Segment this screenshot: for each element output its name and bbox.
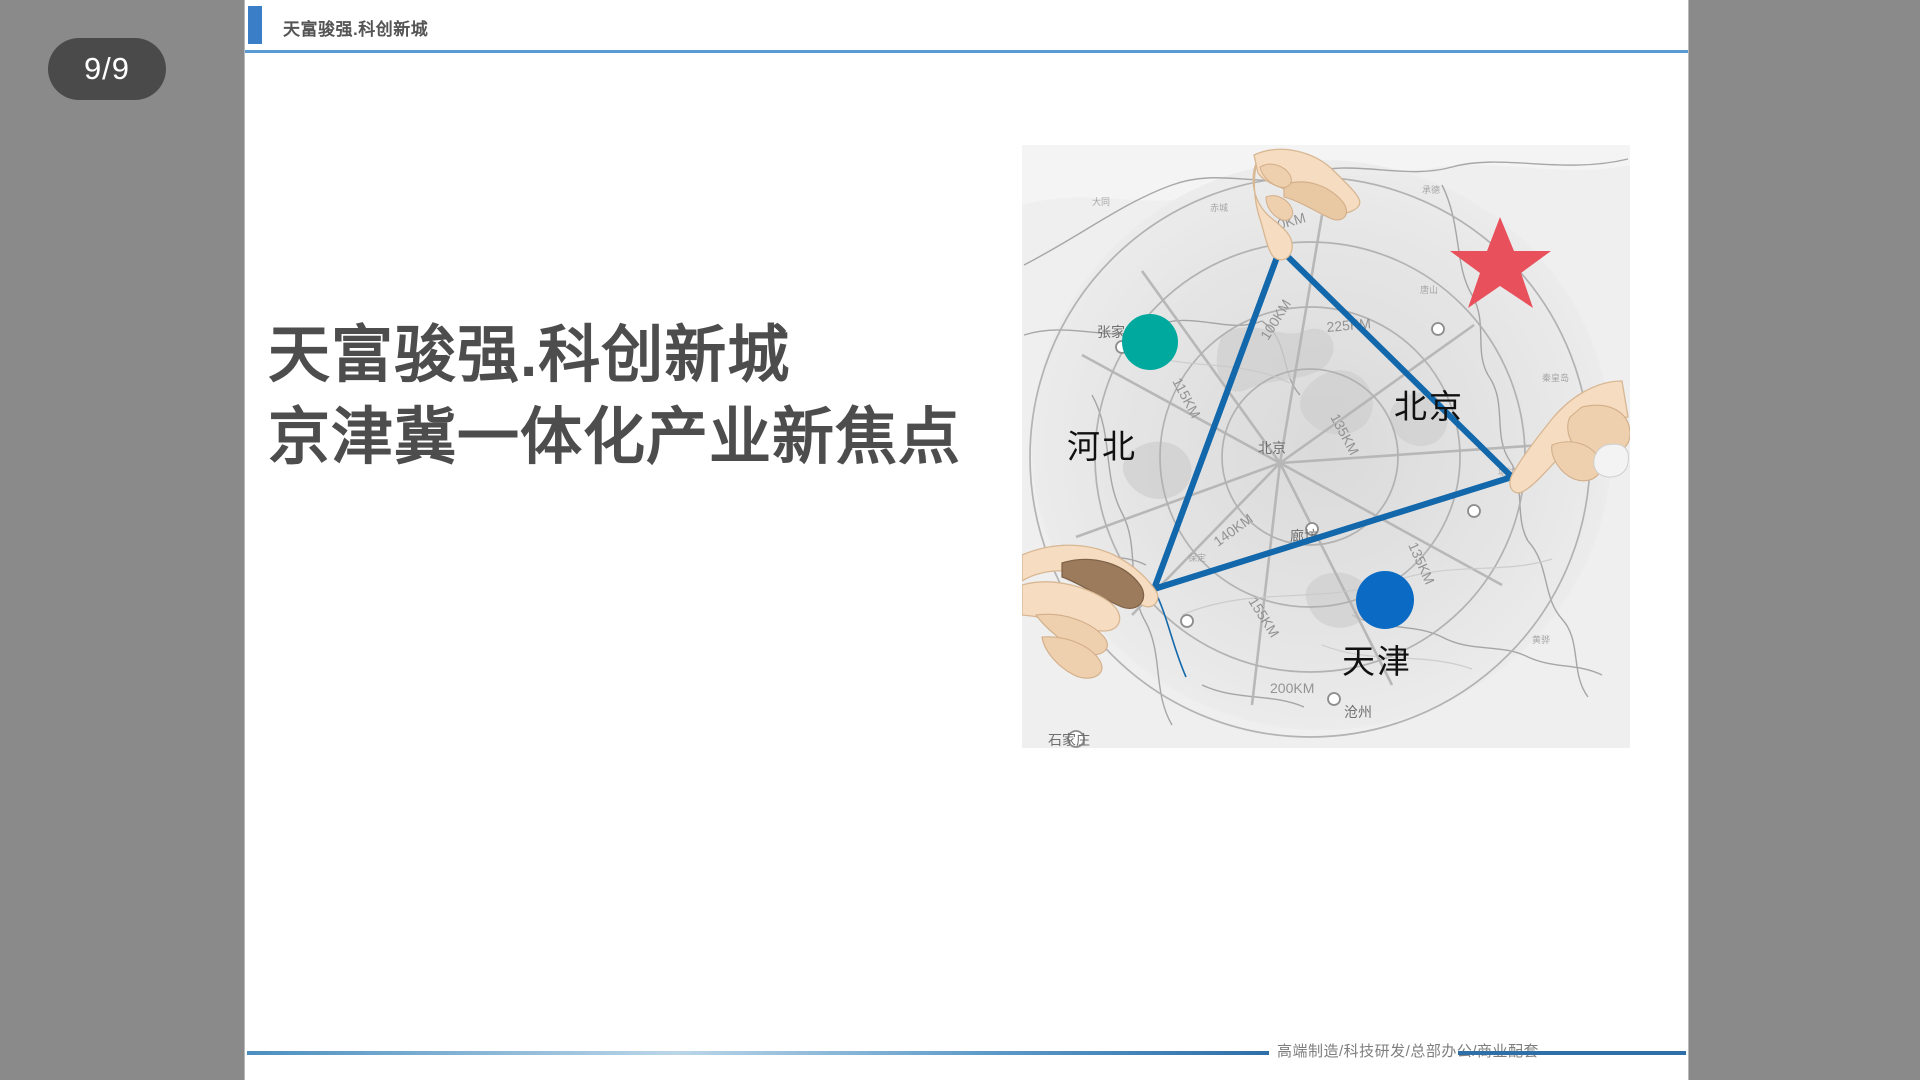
footer-rule-right bbox=[1458, 1051, 1686, 1055]
map-label-hebei: 河北 bbox=[1067, 420, 1137, 468]
region-map-image: 200KM 100KM 225KM 115KM 135KM 155KM 135K… bbox=[1022, 145, 1630, 748]
map-label-beijing: 北京 bbox=[1394, 380, 1464, 428]
svg-text:秦皇岛: 秦皇岛 bbox=[1542, 372, 1569, 383]
svg-text:保定: 保定 bbox=[1188, 552, 1206, 563]
svg-text:大同: 大同 bbox=[1092, 196, 1110, 207]
headline-block: 天富骏强.科创新城 京津冀一体化产业新焦点 bbox=[268, 315, 1048, 479]
headline-line-1: 天富骏强.科创新城 bbox=[268, 315, 1048, 397]
svg-text:承德: 承德 bbox=[1422, 184, 1440, 195]
presentation-viewer: 9/9 天富骏强.科创新城 天富骏强.科创新城 京津冀一体化产业新焦点 bbox=[0, 0, 1920, 1080]
slide-footer: 高端制造/科技研发/总部办公/商业配套 bbox=[245, 1032, 1688, 1062]
slide-canvas: 天富骏强.科创新城 天富骏强.科创新城 京津冀一体化产业新焦点 bbox=[245, 0, 1688, 1080]
svg-text:北京: 北京 bbox=[1258, 440, 1286, 456]
header-divider-line bbox=[245, 50, 1688, 53]
header-accent-bar bbox=[248, 6, 262, 44]
svg-text:200KM: 200KM bbox=[1270, 680, 1314, 696]
hebei-circle-marker bbox=[1122, 314, 1178, 370]
footer-rule-left bbox=[247, 1051, 1269, 1055]
page-indicator-badge[interactable]: 9/9 bbox=[48, 38, 166, 100]
svg-text:唐山: 唐山 bbox=[1420, 284, 1438, 295]
svg-text:石家庄: 石家庄 bbox=[1048, 732, 1090, 748]
map-label-tianjin: 天津 bbox=[1342, 635, 1412, 683]
svg-text:沧州: 沧州 bbox=[1344, 704, 1372, 720]
headline-line-2: 京津冀一体化产业新焦点 bbox=[268, 397, 1048, 479]
svg-text:黄骅: 黄骅 bbox=[1532, 634, 1550, 645]
slide-header: 天富骏强.科创新城 bbox=[245, 6, 1688, 44]
header-title: 天富骏强.科创新城 bbox=[283, 15, 428, 40]
svg-text:赤城: 赤城 bbox=[1210, 203, 1228, 213]
tianjin-circle-marker bbox=[1356, 571, 1414, 629]
